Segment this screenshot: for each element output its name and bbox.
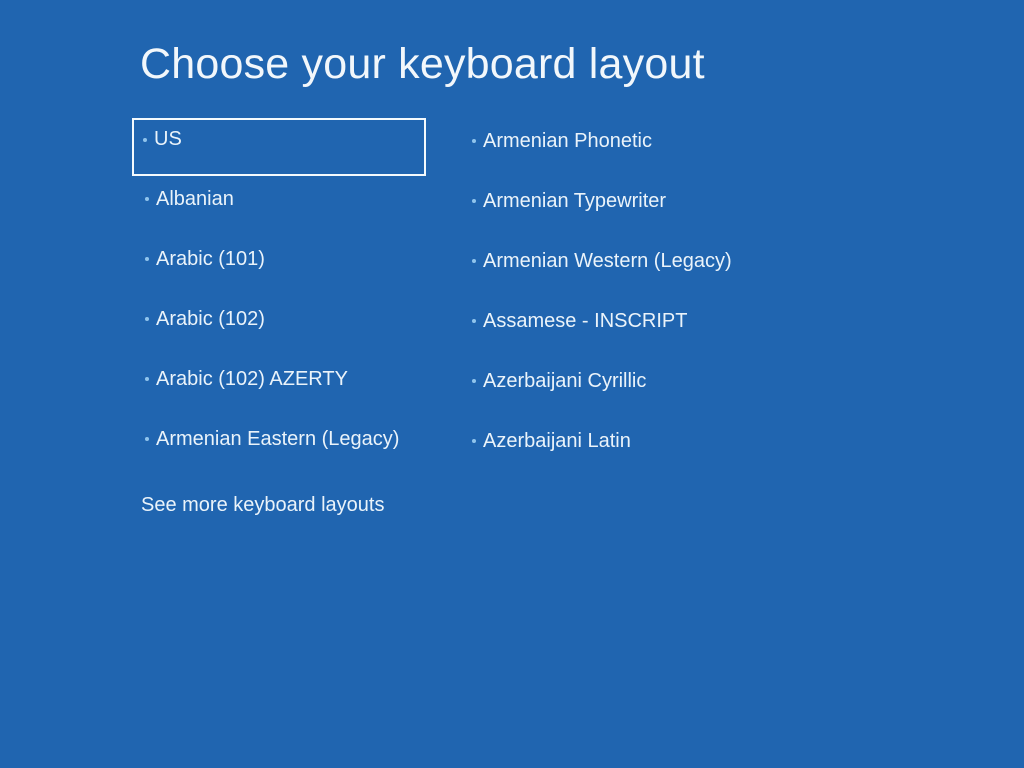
bullet-icon (472, 259, 476, 263)
keyboard-layout-label: Arabic (101) (156, 246, 265, 272)
keyboard-layout-label: Albanian (156, 186, 234, 212)
bullet-icon (472, 439, 476, 443)
bullet-icon (472, 319, 476, 323)
keyboard-layout-item[interactable]: Armenian Phonetic (459, 118, 859, 178)
keyboard-layout-label: Arabic (102) AZERTY (156, 366, 348, 392)
keyboard-layout-label: Armenian Phonetic (483, 128, 652, 154)
bullet-icon (145, 377, 149, 381)
bullet-icon (145, 317, 149, 321)
keyboard-layout-label: Assamese - INSCRIPT (483, 308, 687, 334)
keyboard-layout-label: Arabic (102) (156, 306, 265, 332)
bullet-icon (145, 197, 149, 201)
keyboard-layout-item[interactable]: Assamese - INSCRIPT (459, 298, 859, 358)
keyboard-layout-item[interactable]: US (132, 118, 426, 176)
bullet-icon (472, 199, 476, 203)
keyboard-layout-label: Armenian Western (Legacy) (483, 248, 732, 274)
layout-column-right: Armenian PhoneticArmenian TypewriterArme… (459, 118, 859, 478)
keyboard-layout-item[interactable]: Armenian Western (Legacy) (459, 238, 859, 298)
keyboard-layout-label: Azerbaijani Latin (483, 428, 631, 454)
keyboard-layout-label: Armenian Typewriter (483, 188, 666, 214)
keyboard-layout-item[interactable]: Armenian Typewriter (459, 178, 859, 238)
bullet-icon (145, 257, 149, 261)
bullet-icon (145, 437, 149, 441)
keyboard-layout-screen: Choose your keyboard layout USAlbanianAr… (0, 0, 1024, 768)
keyboard-layout-list: USAlbanianArabic (101)Arabic (102)Arabic… (0, 0, 1024, 768)
bullet-icon (472, 379, 476, 383)
bullet-icon (143, 138, 147, 142)
keyboard-layout-label: Armenian Eastern (Legacy) (156, 426, 399, 452)
keyboard-layout-label: Azerbaijani Cyrillic (483, 368, 646, 394)
bullet-icon (472, 139, 476, 143)
keyboard-layout-label: US (154, 126, 182, 152)
keyboard-layout-item[interactable]: Azerbaijani Latin (459, 418, 859, 478)
see-more-keyboard-layouts-link[interactable]: See more keyboard layouts (141, 492, 384, 518)
keyboard-layout-item[interactable]: Azerbaijani Cyrillic (459, 358, 859, 418)
